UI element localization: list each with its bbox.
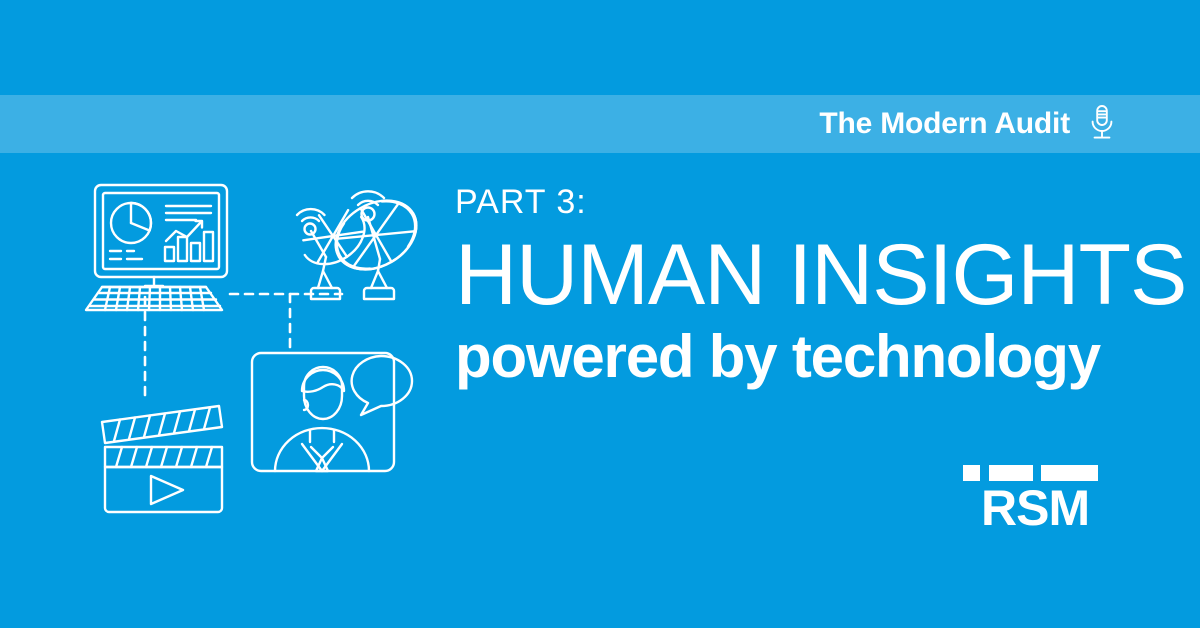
headline-block: PART 3: HUMAN INSIGHTS powered by techno… bbox=[455, 185, 1115, 388]
rsm-logo: RSM bbox=[963, 465, 1098, 535]
video-interview-icon bbox=[252, 353, 412, 471]
headline-subtitle: powered by technology bbox=[455, 325, 1115, 388]
desktop-monitor-dashboard-icon bbox=[86, 185, 227, 310]
clapperboard-play-icon bbox=[102, 406, 222, 512]
rsm-logo-bar-3 bbox=[1041, 465, 1098, 481]
illustration bbox=[80, 175, 430, 515]
rsm-logo-bar-1 bbox=[963, 465, 980, 481]
rsm-wordmark: RSM bbox=[981, 483, 1089, 533]
part-kicker: PART 3: bbox=[455, 185, 1115, 219]
rsm-logo-bars bbox=[963, 465, 1098, 481]
satellite-dish-icon bbox=[258, 175, 429, 299]
podcast-banner: The Modern Audit bbox=[0, 95, 1200, 153]
rsm-logo-bar-2 bbox=[989, 465, 1033, 481]
microphone-icon bbox=[1088, 104, 1116, 144]
banner-title: The Modern Audit bbox=[819, 109, 1070, 139]
headline-title: HUMAN INSIGHTS bbox=[455, 233, 1115, 317]
banner-content: The Modern Audit bbox=[819, 95, 1116, 153]
poster-canvas: The Modern Audit PART 3: HUMAN INSIGHTS … bbox=[0, 0, 1200, 628]
